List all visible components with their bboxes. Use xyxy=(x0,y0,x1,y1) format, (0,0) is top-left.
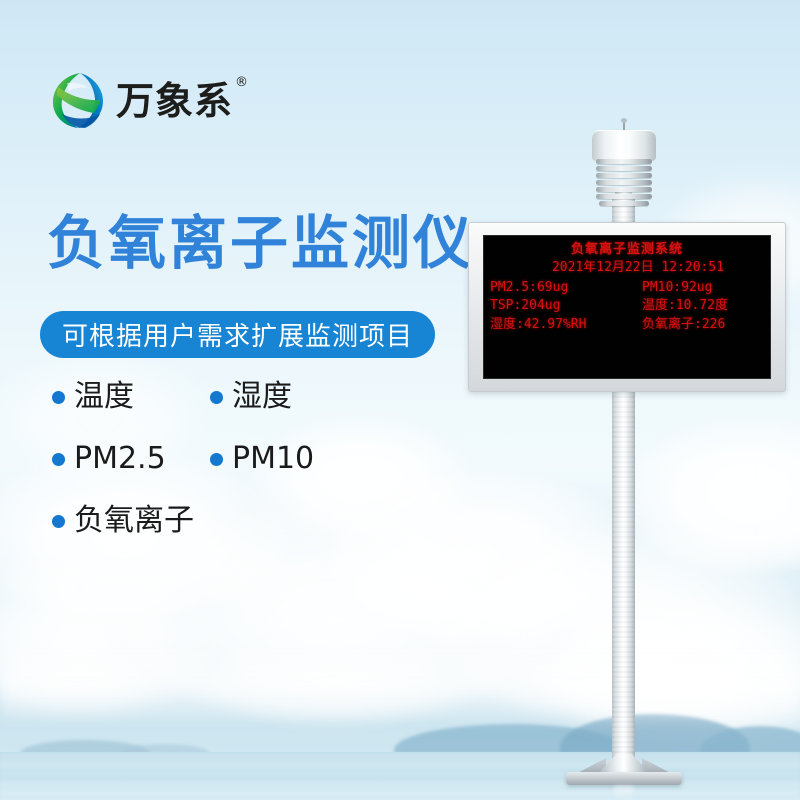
promo-banner: 万象系® 负氧离子监测仪 可根据用户需求扩展监测项目 温度 湿度 PM2.5 P… xyxy=(0,0,800,800)
bullet-dot-icon xyxy=(210,391,223,404)
list-item: 温度 xyxy=(52,382,210,412)
subtitle-badge: 可根据用户需求扩展监测项目 xyxy=(40,311,435,358)
distant-island xyxy=(560,714,750,754)
led-readings-grid: PM2.5:69ug PM10:92ug TSP:204ug 温度:10.72度… xyxy=(490,279,764,334)
page-title: 负氧离子监测仪 xyxy=(47,214,474,272)
feature-label: PM10 xyxy=(232,444,314,474)
cloud xyxy=(620,420,800,570)
globe-swirl-logo-icon xyxy=(50,70,106,132)
distant-island xyxy=(20,740,150,756)
led-display-board[interactable]: 负氧离子监测系统 2021年12月22日 12:20:51 PM2.5:69ug… xyxy=(468,222,786,392)
reading-pm25: PM2.5:69ug xyxy=(490,279,642,297)
cloud xyxy=(540,600,800,740)
registered-trademark-icon: ® xyxy=(235,76,249,89)
flange-base-plate-icon xyxy=(566,752,682,788)
list-item: PM10 xyxy=(210,444,314,474)
table-row: 湿度:42.97%RH 负氧离子:226 xyxy=(490,316,764,334)
sensor-cap xyxy=(592,130,656,161)
horizon-haze xyxy=(0,640,800,720)
radiation-shield-sensor-icon xyxy=(588,120,660,206)
feature-label: 湿度 xyxy=(232,382,292,412)
list-item: PM2.5 xyxy=(52,444,210,474)
louver-plate xyxy=(599,201,649,206)
louver-stack xyxy=(596,159,652,207)
brand-logo: 万象系® xyxy=(50,70,233,132)
reading-pm10: PM10:92ug xyxy=(642,279,712,297)
distant-island xyxy=(700,726,800,754)
bullet-dot-icon xyxy=(52,515,65,528)
reading-humidity: 湿度:42.97%RH xyxy=(490,316,642,334)
bullet-dot-icon xyxy=(52,391,65,404)
bullet-dot-icon xyxy=(210,453,223,466)
base-plate xyxy=(566,772,682,785)
led-datetime: 2021年12月22日 12:20:51 xyxy=(490,259,764,277)
reading-temperature: 温度:10.72度 xyxy=(642,297,728,315)
led-title: 负氧离子监测系统 xyxy=(490,241,764,259)
louver-plate xyxy=(596,194,652,199)
brand-wordmark: 万象系® xyxy=(116,82,233,120)
brand-name-text: 万象系 xyxy=(116,79,233,123)
pole-reflection xyxy=(614,786,633,800)
bullet-dot-icon xyxy=(52,453,65,466)
reading-tsp: TSP:204ug xyxy=(490,297,642,315)
table-row: PM2.5:69ug PM10:92ug xyxy=(490,279,764,297)
feature-label: PM2.5 xyxy=(74,444,166,474)
feature-row: 温度 湿度 xyxy=(52,382,382,412)
feature-row: PM2.5 PM10 xyxy=(52,444,382,474)
louver-plate xyxy=(596,187,652,192)
feature-label: 负氧离子 xyxy=(74,506,194,536)
cloud xyxy=(0,560,220,710)
distant-island xyxy=(394,724,624,754)
list-item: 负氧离子 xyxy=(52,506,194,536)
feature-list: 温度 湿度 PM2.5 PM10 负氧离子 xyxy=(52,382,382,568)
louver-plate xyxy=(596,166,652,171)
feature-row: 负氧离子 xyxy=(52,506,382,536)
louver-plate xyxy=(596,159,652,164)
reading-negative-oxygen-ions: 负氧离子:226 xyxy=(642,316,725,334)
louver-plate xyxy=(596,180,652,185)
table-row: TSP:204ug 温度:10.72度 xyxy=(490,297,764,315)
louver-plate xyxy=(596,173,652,178)
distant-island xyxy=(120,744,210,756)
feature-label: 温度 xyxy=(74,382,134,412)
list-item: 湿度 xyxy=(210,382,292,412)
led-screen: 负氧离子监测系统 2021年12月22日 12:20:51 PM2.5:69ug… xyxy=(483,235,771,379)
